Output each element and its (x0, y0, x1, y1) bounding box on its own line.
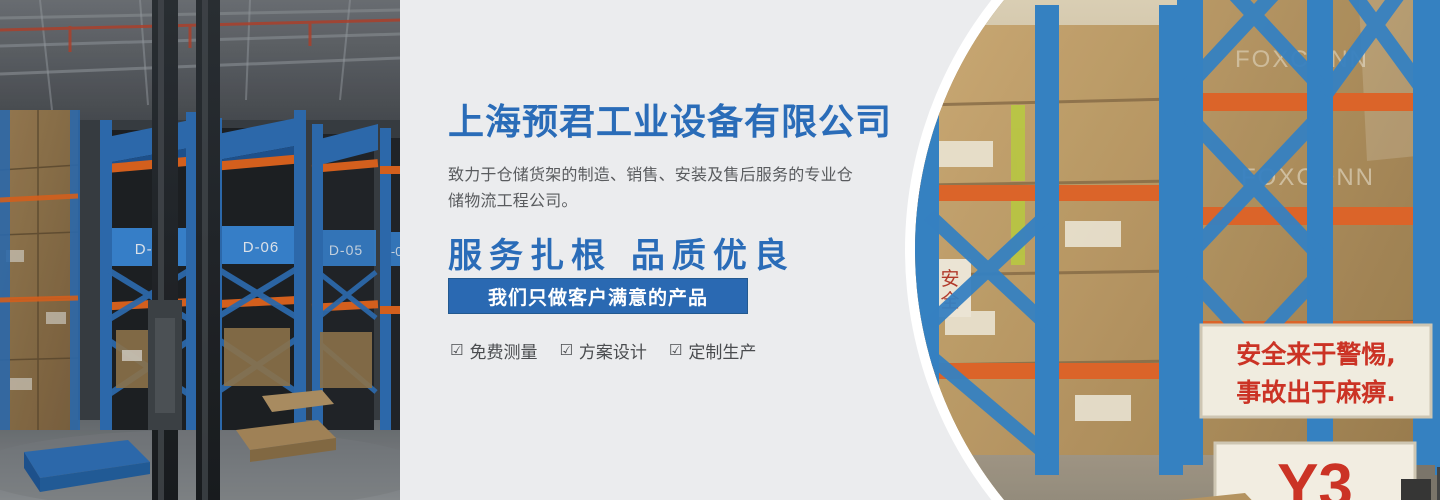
right-warehouse-photo: 安 全 (915, 0, 1440, 500)
feature-item-free-measure: ☑ 免费测量 (450, 338, 537, 363)
checkbox-checked-icon: ☑ (669, 343, 682, 358)
feature-item-custom-production: ☑ 定制生产 (669, 338, 756, 363)
right-photo-wrapper: 安 全 (900, 0, 1440, 500)
feature-item-plan-design: ☑ 方案设计 (559, 338, 646, 363)
cta-button-label: 我们只做客户满意的产品 (488, 283, 708, 310)
feature-item-label: 定制生产 (688, 338, 756, 363)
center-text-panel: 上海预君工业设备有限公司 致力于仓储货架的制造、销售、安装及售后服务的专业仓储物… (400, 0, 960, 500)
cta-button[interactable]: 我们只做客户满意的产品 (448, 278, 748, 314)
left-warehouse-photo-image: D-07 (0, 0, 400, 500)
slogan-text: 服务扎根 品质优良 (448, 228, 795, 277)
checkbox-checked-icon: ☑ (450, 343, 463, 358)
checkbox-checked-icon: ☑ (559, 343, 572, 358)
feature-item-label: 免费测量 (469, 338, 537, 363)
page-title: 上海预君工业设备有限公司 (448, 102, 892, 142)
left-warehouse-photo: D-07 (0, 0, 400, 500)
company-description: 致力于仓储货架的制造、销售、安装及售后服务的专业仓储物流工程公司。 (448, 163, 868, 214)
feature-item-label: 方案设计 (579, 338, 647, 363)
promo-banner: D-07 (0, 0, 1440, 500)
right-warehouse-photo-image: 安 全 (915, 0, 1440, 500)
feature-list: ☑ 免费测量 ☑ 方案设计 ☑ 定制生产 (450, 338, 756, 363)
